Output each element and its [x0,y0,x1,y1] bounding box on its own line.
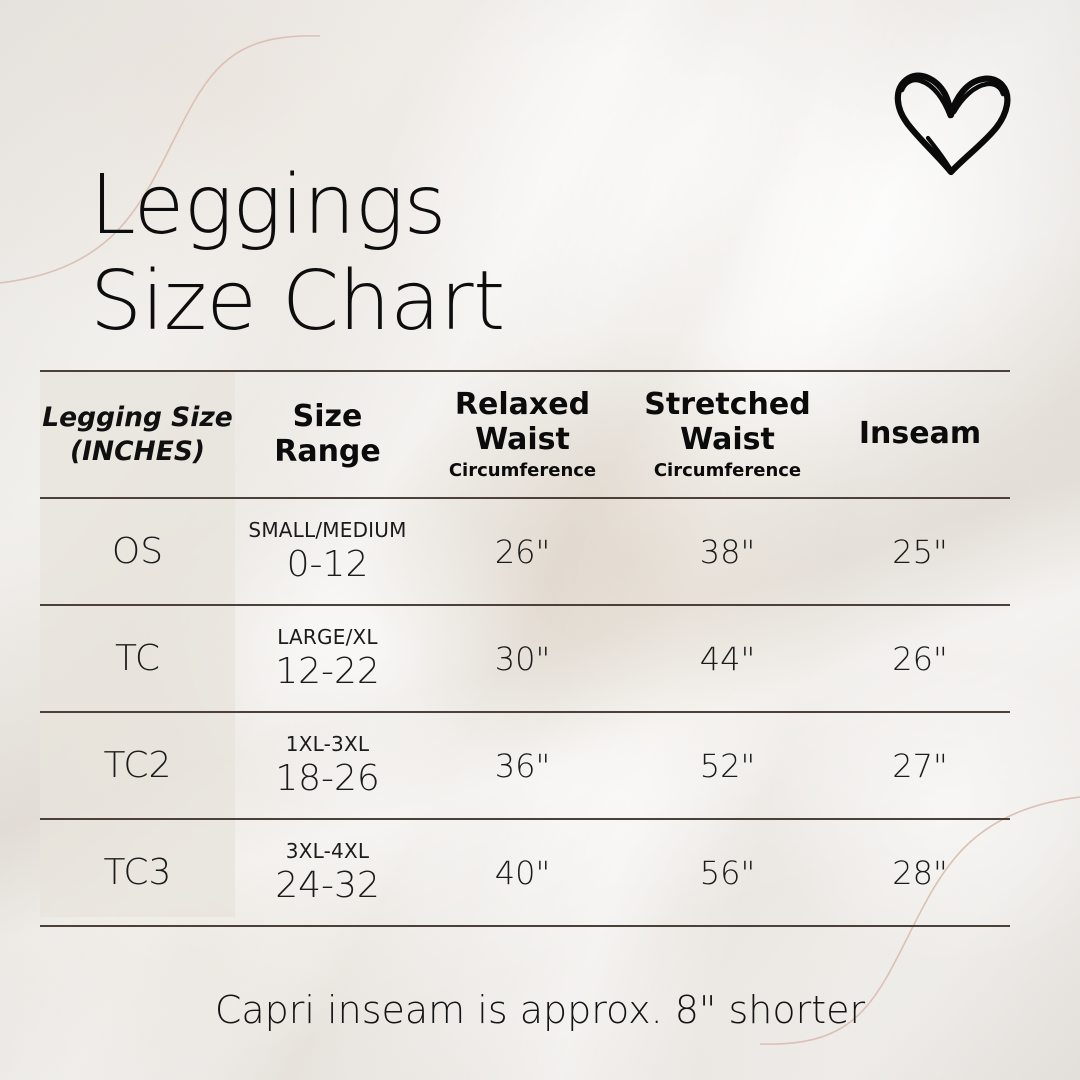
header-stretched-waist-line1: Stretched [644,387,810,422]
cell-stretched-waist: 56" [625,819,830,926]
cell-size-range: 1XL-3XL 18-26 [235,712,420,819]
header-legging-size-line2: (INCHES) [70,436,205,467]
cell-size-range: LARGE/XL 12-22 [235,605,420,712]
cell-inseam: 26" [830,605,1010,712]
cell-size-range-value: 24-32 [235,865,420,906]
footer-note: Capri inseam is approx. 8" shorter [0,988,1080,1032]
table-bottom-rule [40,926,1010,927]
table-row: TC LARGE/XL 12-22 30" 44" 26" [40,605,1010,712]
cell-inseam: 27" [830,712,1010,819]
cell-stretched-waist: 38" [625,498,830,605]
heart-icon [888,60,1016,188]
cell-relaxed-waist: 40" [420,819,625,926]
size-chart-table-wrapper: Legging Size (INCHES) Size Range Relaxed… [40,370,1010,927]
table-bottom-rule-row [40,926,1010,927]
header-size-range: Size Range [235,371,420,498]
header-stretched-waist-sub: Circumference [625,460,830,482]
size-chart-table: Legging Size (INCHES) Size Range Relaxed… [40,370,1010,927]
table-row: TC3 3XL-4XL 24-32 40" 56" 28" [40,819,1010,926]
cell-size-range-label: 3XL-4XL [235,839,420,863]
header-relaxed-waist-sub: Circumference [420,460,625,482]
title-line-1: Leggings [90,158,850,254]
cell-inseam: 28" [830,819,1010,926]
cell-size-range-value: 18-26 [235,758,420,799]
cell-size-code: OS [40,498,235,605]
cell-size-code: TC [40,605,235,712]
header-stretched-waist-line2: Waist [680,422,775,457]
table-row: TC2 1XL-3XL 18-26 36" 52" 27" [40,712,1010,819]
header-inseam: Inseam [830,371,1010,498]
cell-stretched-waist: 52" [625,712,830,819]
size-chart-canvas: Leggings Size Chart Legging Size (INCHES… [0,0,1080,1080]
cell-size-range-label: LARGE/XL [235,625,420,649]
header-size-range-line1: Size [293,399,363,434]
cell-size-code: TC2 [40,712,235,819]
cell-relaxed-waist: 30" [420,605,625,712]
header-relaxed-waist-line1: Relaxed [455,387,590,422]
cell-size-range: SMALL/MEDIUM 0-12 [235,498,420,605]
cell-size-range-value: 0-12 [235,544,420,585]
title-line-2: Size Chart [90,254,850,350]
table-header-row: Legging Size (INCHES) Size Range Relaxed… [40,371,1010,498]
cell-inseam: 25" [830,498,1010,605]
header-size-range-line2: Range [274,434,381,469]
table-row: OS SMALL/MEDIUM 0-12 26" 38" 25" [40,498,1010,605]
cell-relaxed-waist: 36" [420,712,625,819]
cell-size-range-label: SMALL/MEDIUM [235,518,420,542]
page-title: Leggings Size Chart [90,158,850,350]
cell-stretched-waist: 44" [625,605,830,712]
cell-relaxed-waist: 26" [420,498,625,605]
header-inseam-label: Inseam [859,416,981,451]
header-legging-size: Legging Size (INCHES) [40,371,235,498]
header-stretched-waist: Stretched Waist Circumference [625,371,830,498]
header-relaxed-waist: Relaxed Waist Circumference [420,371,625,498]
header-legging-size-line1: Legging Size [42,402,233,433]
cell-size-range: 3XL-4XL 24-32 [235,819,420,926]
cell-size-range-value: 12-22 [235,651,420,692]
cell-size-range-label: 1XL-3XL [235,732,420,756]
header-relaxed-waist-line2: Waist [475,422,570,457]
cell-size-code: TC3 [40,819,235,926]
